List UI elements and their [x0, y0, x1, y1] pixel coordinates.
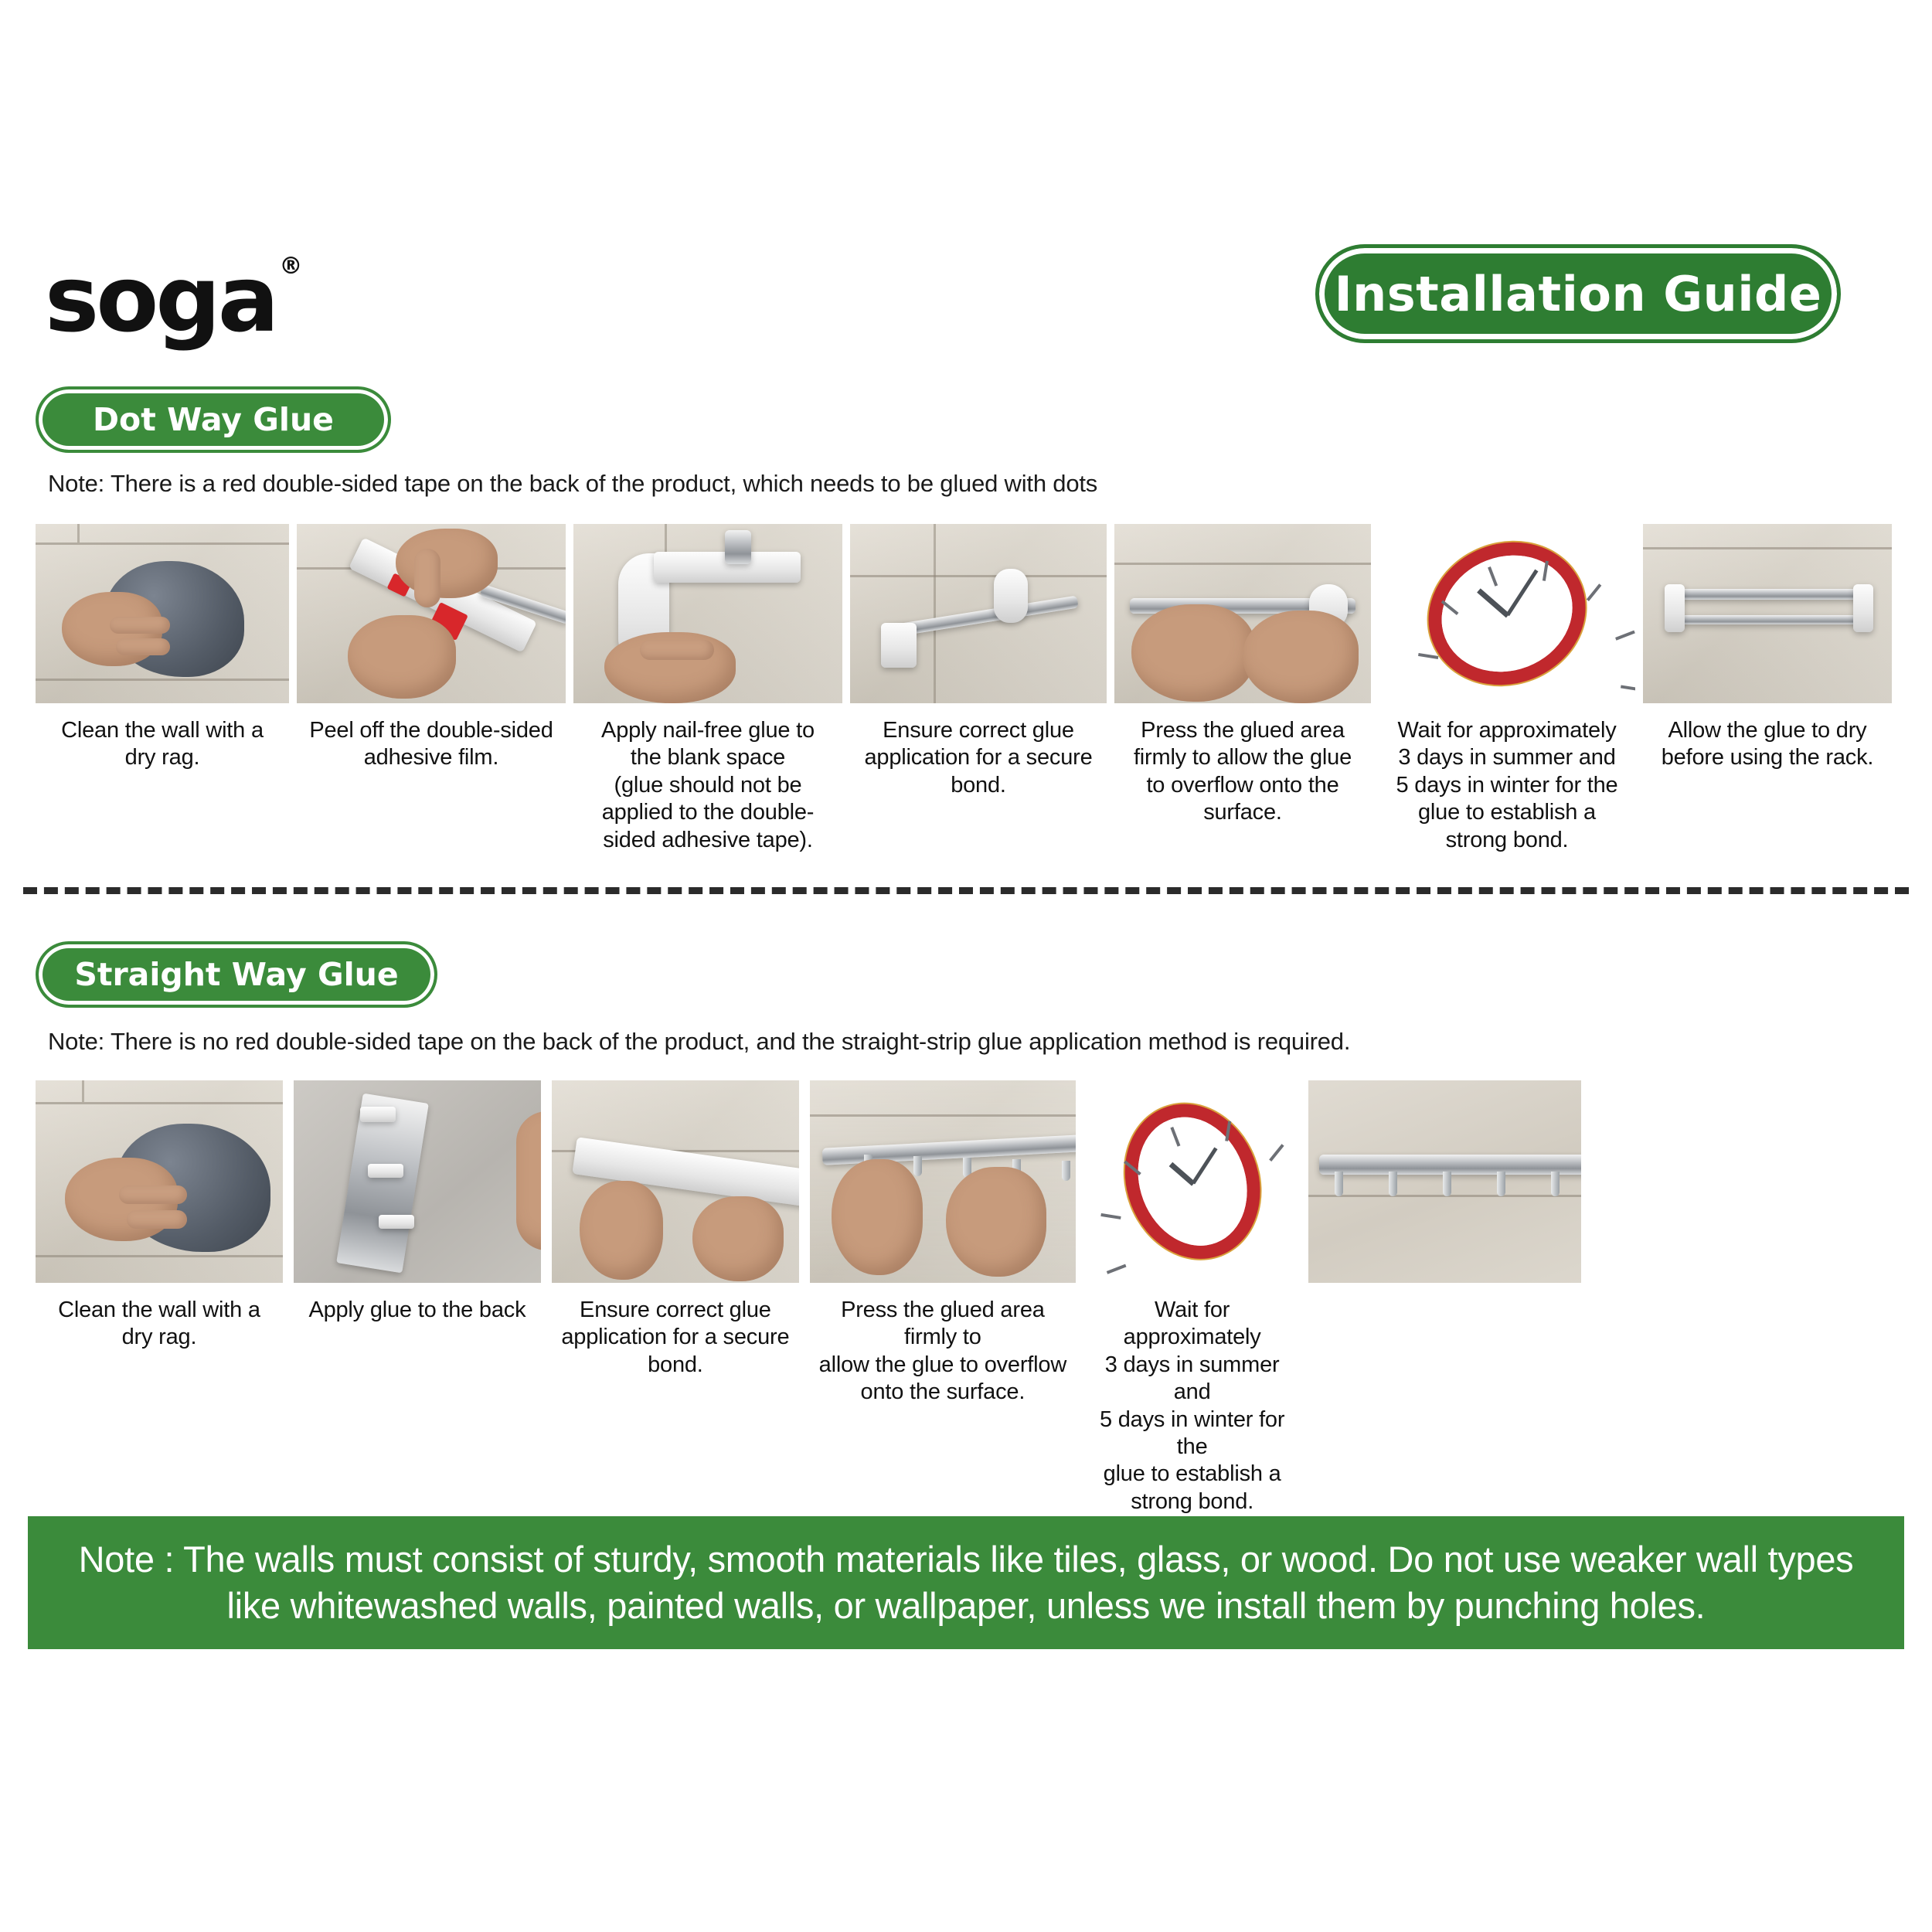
step-caption: Allow the glue to dry before using the r… [1658, 717, 1876, 772]
step-item: Ensure correct glue application for a se… [850, 524, 1107, 854]
step-caption: Ensure correct glue application for a se… [558, 1297, 792, 1379]
steps-row-straight-way-glue: Clean the wall with a dry rag. Apply glu… [36, 1080, 1581, 1515]
glue-pattern-photo [850, 524, 1107, 703]
clock-icon [1087, 1080, 1298, 1283]
step-caption: Clean the wall with a dry rag. [55, 1297, 264, 1352]
step-item: Clean the wall with a dry rag. [36, 1080, 283, 1515]
section-note-dot: Note: There is a red double-sided tape o… [48, 470, 1097, 498]
trademark-icon: ® [279, 253, 302, 280]
installation-guide-page: soga® Installation Guide Dot Way Glue No… [0, 0, 1932, 1932]
step-item: Apply nail-free glue to the blank space … [573, 524, 842, 854]
step-item: Ensure correct glue application for a se… [552, 1080, 799, 1515]
apply-glue-photo [573, 524, 842, 703]
finished-hookrail-photo [1308, 1080, 1581, 1283]
footer-note-text: Note : The walls must consist of sturdy,… [59, 1536, 1874, 1629]
step-item [1308, 1080, 1581, 1515]
step-caption: Wait for approximately 3 days in summer … [1393, 717, 1621, 854]
step-caption: Peel off the double-sided adhesive film. [306, 717, 556, 772]
press-rack-photo [1114, 524, 1371, 703]
clock-icon [1379, 524, 1635, 703]
glue-back-photo [294, 1080, 541, 1283]
press-hookrail-photo [810, 1080, 1076, 1283]
step-caption: Press the glued area firmly to allow the… [1131, 717, 1355, 827]
steps-row-dot-way-glue: Clean the wall with a dry rag. Peel off … [36, 524, 1900, 854]
soga-logo: soga® [45, 253, 299, 345]
step-caption: Press the glued area firmly to allow the… [810, 1297, 1076, 1406]
step-item: Peel off the double-sided adhesive film. [297, 524, 566, 854]
step-item: Press the glued area firmly to allow the… [1114, 524, 1371, 854]
wall-cleaning-photo [36, 524, 289, 703]
section-pill-dot-way-glue: Dot Way Glue [36, 386, 391, 453]
wall-cleaning-photo [36, 1080, 283, 1283]
step-caption: Wait for approximately 3 days in summer … [1087, 1297, 1298, 1515]
step-item: Allow the glue to dry before using the r… [1643, 524, 1892, 854]
installation-guide-title: Installation Guide [1335, 266, 1822, 322]
peel-adhesive-photo [297, 524, 566, 703]
step-item: Press the glued area firmly to allow the… [810, 1080, 1076, 1515]
footer-note-banner: Note : The walls must consist of sturdy,… [28, 1516, 1904, 1649]
step-item: Apply glue to the back [294, 1080, 541, 1515]
section-note-straight: Note: There is no red double-sided tape … [48, 1028, 1350, 1056]
step-item: Wait for approximately 3 days in summer … [1379, 524, 1635, 854]
logo-text: soga [45, 246, 276, 352]
finished-towel-rack-photo [1643, 524, 1892, 703]
step-item: Wait for approximately 3 days in summer … [1087, 1080, 1298, 1515]
step-caption: Ensure correct glue application for a se… [861, 717, 1095, 799]
section-title-straight: Straight Way Glue [74, 956, 398, 993]
section-divider [23, 887, 1909, 894]
step-item: Clean the wall with a dry rag. [36, 524, 289, 854]
page-header: soga® Installation Guide [0, 232, 1932, 379]
installation-guide-badge: Installation Guide [1315, 244, 1841, 343]
step-caption: Clean the wall with a dry rag. [58, 717, 267, 772]
step-caption: Apply nail-free glue to the blank space … [598, 717, 818, 854]
section-pill-straight-way-glue: Straight Way Glue [36, 941, 437, 1008]
section-title-dot: Dot Way Glue [93, 401, 334, 438]
step-caption: Apply glue to the back [305, 1297, 529, 1324]
glue-strip-photo [552, 1080, 799, 1283]
